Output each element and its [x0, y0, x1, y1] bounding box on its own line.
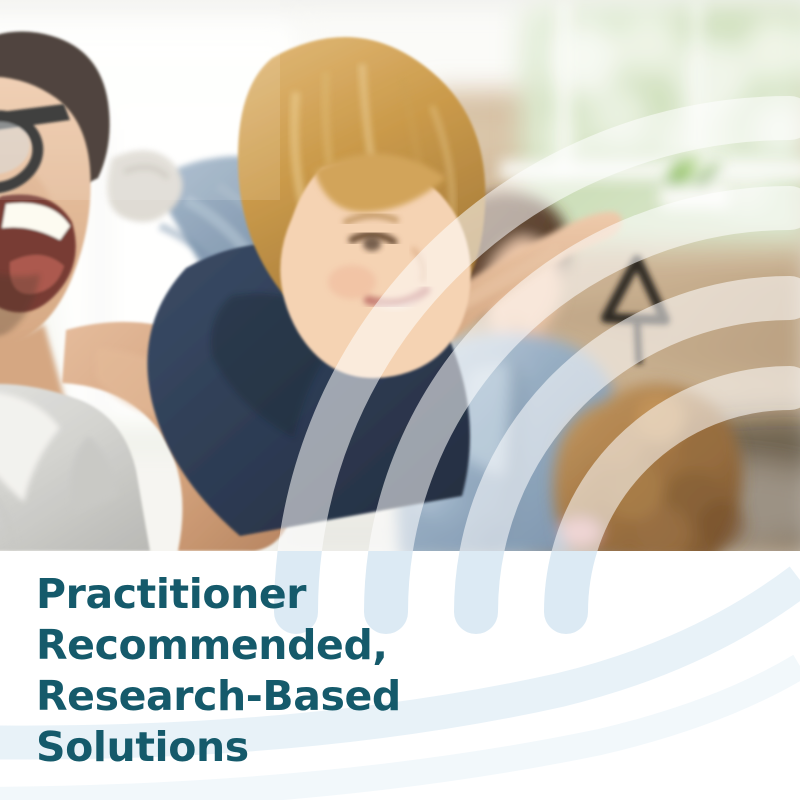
- headline-line-2: Recommended,: [36, 620, 506, 671]
- headline-line-1: Practitioner: [36, 569, 506, 620]
- family-photo-illustration: [0, 0, 800, 551]
- page-title: Practitioner Recommended, Research-Based…: [36, 569, 506, 773]
- headline-line-3: Research-Based: [36, 671, 506, 722]
- promo-card: Practitioner Recommended, Research-Based…: [0, 0, 800, 800]
- family-photo: [0, 0, 800, 551]
- headline-line-4: Solutions: [36, 722, 506, 773]
